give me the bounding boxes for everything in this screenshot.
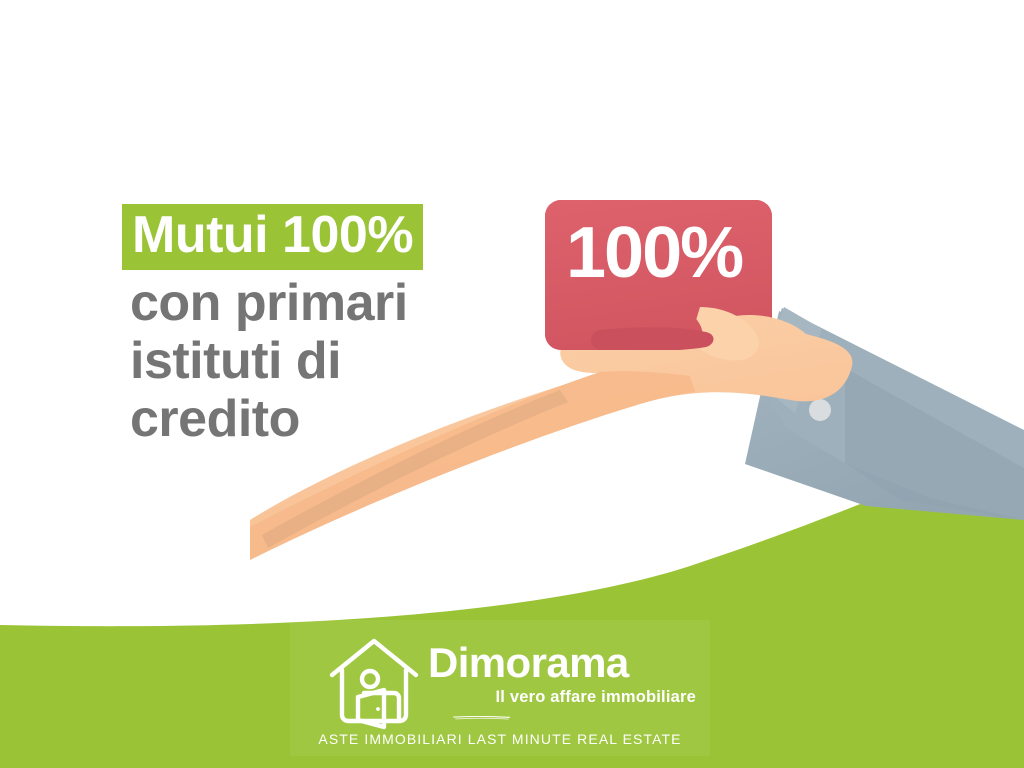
logo-subline: ASTE IMMOBILIARI LAST MINUTE REAL ESTATE [290,730,710,748]
logo-divider-rule [438,716,526,720]
badge-label: 100% [566,213,742,293]
logo-wordmark-group: Dimorama Il vero affare immobiliare [428,640,698,725]
headline-rest: con primari istituti di credito [122,274,542,448]
sleeve-button-dot [809,399,831,421]
headline-block: Mutui 100% con primari istituti di credi… [122,204,542,448]
headline-highlight: Mutui 100% [122,204,423,270]
banner-canvas: Mutui 100% con primari istituti di credi… [0,0,1024,768]
headline-highlight-wrap: Mutui 100% [122,204,542,270]
headline-line-2: istituti di [122,332,542,390]
logo-lockup: Dimorama Il vero affare immobiliare ASTE… [290,620,710,756]
logo-tagline: Il vero affare immobiliare [428,687,698,707]
logo-name: Dimorama [428,640,698,686]
house-with-open-door-icon [326,635,422,731]
headline-line-1: con primari [122,274,542,332]
headline-line-3: credito [122,390,542,448]
